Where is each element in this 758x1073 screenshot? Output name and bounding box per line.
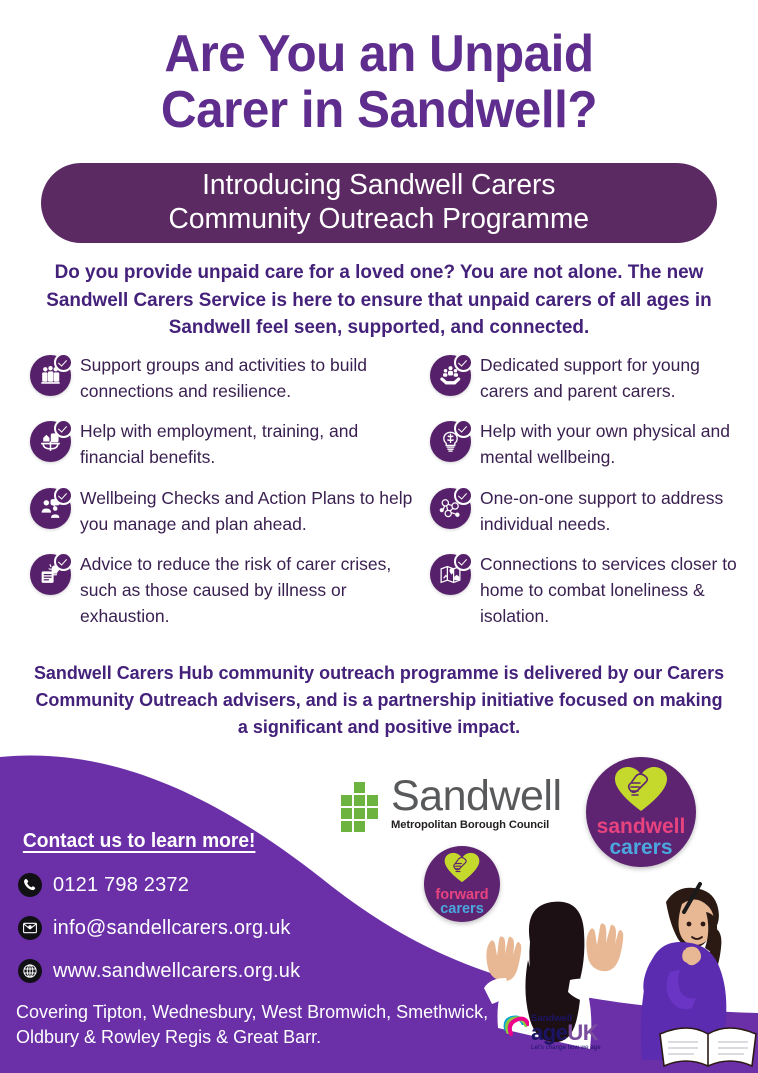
council-squares-icon (338, 782, 382, 838)
benefit-label: Dedicated support for young carers and p… (480, 352, 750, 404)
council-wordmark: Sandwell (391, 772, 562, 820)
intro-paragraph: Do you provide unpaid care for a loved o… (33, 259, 726, 342)
covering-areas: Covering Tipton, Wednesbury, West Bromwi… (16, 1000, 496, 1050)
benefits-column-right: Dedicated support for young carers and p… (430, 352, 750, 643)
benefit-item: One-on-one support to address individual… (430, 485, 750, 537)
check-badge-icon (454, 419, 473, 438)
age-uk-swirl-icon (503, 1015, 529, 1042)
one-on-one-network-icon (430, 488, 471, 529)
employment-training-icon (30, 421, 71, 462)
check-badge-icon (454, 486, 473, 505)
benefits-section: Support groups and activities to build c… (0, 352, 758, 652)
phone-number: 0121 798 2372 (53, 874, 189, 897)
contact-website[interactable]: www.sandwellcarers.org.uk (18, 959, 300, 983)
contact-email[interactable]: info@sandellcarers.org.uk (18, 916, 291, 940)
phone-icon (18, 873, 42, 897)
benefit-label: Help with employment, training, and fina… (80, 418, 425, 470)
mental-wellbeing-brain-icon (430, 421, 471, 462)
benefit-label: Advice to reduce the risk of carer crise… (80, 551, 425, 629)
poster-canvas: Are You an Unpaid Carer in Sandwell? Int… (0, 0, 758, 1073)
page-title: Are You an Unpaid Carer in Sandwell? (19, 26, 739, 138)
check-badge-icon (54, 353, 73, 372)
age-uk-uk-label: UK (567, 1024, 598, 1043)
young-carers-hands-icon (430, 355, 471, 396)
check-badge-icon (54, 419, 73, 438)
heart-hands-icon (614, 766, 668, 817)
contact-phone[interactable]: 0121 798 2372 (18, 873, 189, 897)
age-uk-tagline: Let's change how we age (531, 1044, 601, 1051)
wellbeing-check-icon (30, 488, 71, 529)
benefit-item: Dedicated support for young carers and p… (430, 352, 750, 404)
check-badge-icon (454, 552, 473, 571)
contact-heading: Contact us to learn more! (23, 830, 256, 853)
programme-banner: Introducing Sandwell Carers Community Ou… (41, 163, 717, 243)
age-uk-sandwell-logo: Sandwell age UK Let's change how we age (503, 1014, 611, 1062)
email-icon (18, 916, 42, 940)
email-address: info@sandellcarers.org.uk (53, 917, 291, 940)
benefit-item: Connections to services closer to home t… (430, 551, 750, 629)
benefit-item: Support groups and activities to build c… (30, 352, 425, 404)
headline-line-1: Are You an Unpaid (164, 25, 593, 83)
benefit-label: Help with your own physical and mental w… (480, 418, 750, 470)
benefit-label: Wellbeing Checks and Action Plans to hel… (80, 485, 425, 537)
check-badge-icon (54, 486, 73, 505)
benefit-item: Help with employment, training, and fina… (30, 418, 425, 470)
benefit-label: Connections to services closer to home t… (480, 551, 750, 629)
partnership-statement: Sandwell Carers Hub community outreach p… (31, 660, 727, 740)
headline-line-2: Carer in Sandwell? (19, 82, 739, 138)
advice-document-icon (30, 554, 71, 595)
website-url: www.sandwellcarers.org.uk (53, 960, 300, 983)
globe-icon (18, 959, 42, 983)
group-people-icon (30, 355, 71, 396)
banner-line-2: Community Outreach Programme (169, 203, 590, 237)
benefit-item: Advice to reduce the risk of carer crise… (30, 551, 425, 629)
check-badge-icon (454, 353, 473, 372)
benefit-item: Wellbeing Checks and Action Plans to hel… (30, 485, 425, 537)
check-badge-icon (54, 552, 73, 571)
banner-line-1: Introducing Sandwell Carers (169, 169, 590, 203)
benefit-item: Help with your own physical and mental w… (430, 418, 750, 470)
benefit-label: One-on-one support to address individual… (480, 485, 750, 537)
benefit-label: Support groups and activities to build c… (80, 352, 425, 404)
local-services-map-icon (430, 554, 471, 595)
benefits-column-left: Support groups and activities to build c… (30, 352, 425, 643)
age-uk-age-label: age (531, 1024, 567, 1043)
